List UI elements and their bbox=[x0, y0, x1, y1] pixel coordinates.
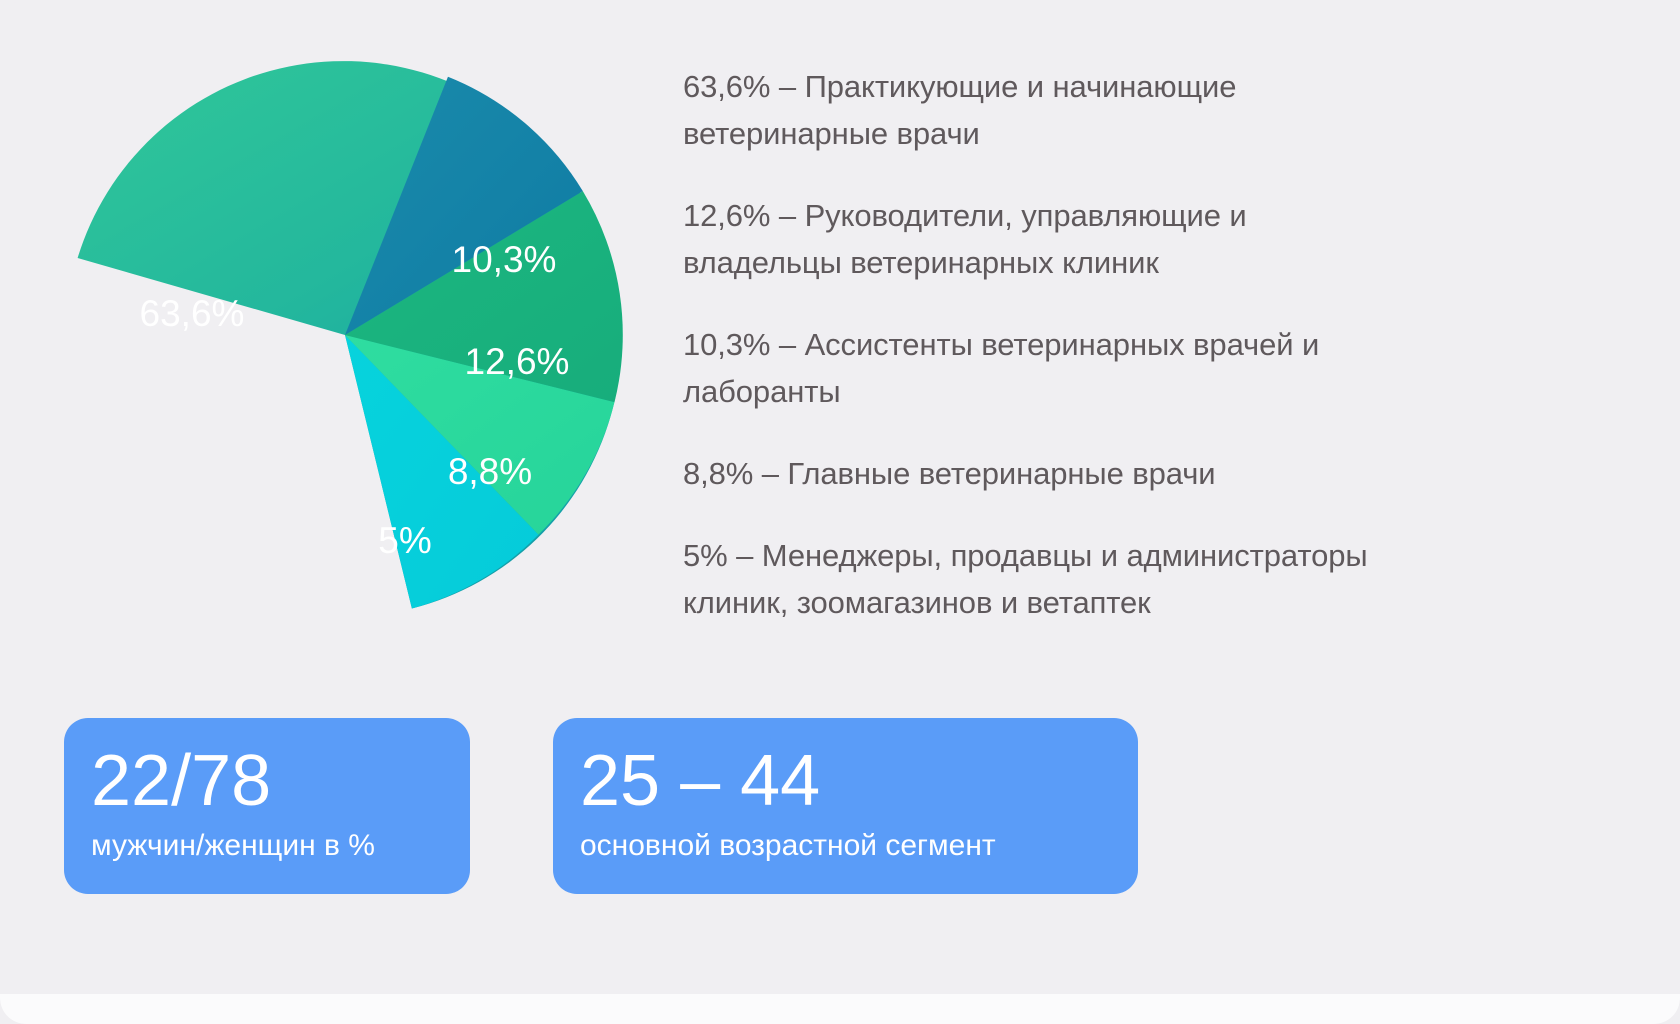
legend-item-10-3: 10,3% – Ассистенты ветеринарных врачей и… bbox=[683, 321, 1538, 415]
infographic-page: 63,6% 10,3% 12,6% 8,8% 5% 63,6% – Практи… bbox=[0, 0, 1680, 1024]
pie-label-63-6: 63,6% bbox=[140, 293, 245, 334]
stat-card-age-segment[interactable]: 25 – 44 основной возрастной сегмент bbox=[553, 718, 1138, 894]
legend-item-5: 5% – Менеджеры, продавцы и администратор… bbox=[683, 532, 1538, 626]
stat-label-age-segment: основной возрастной сегмент bbox=[580, 828, 1108, 864]
stat-cards: 22/78 мужчин/женщин в % 25 – 44 основной… bbox=[64, 718, 1138, 894]
pie-label-8-8: 8,8% bbox=[448, 451, 532, 492]
legend-item-12-6: 12,6% – Руководители, управляющие и влад… bbox=[683, 192, 1538, 286]
bottom-plate bbox=[0, 994, 1680, 1024]
stat-value-age-segment: 25 – 44 bbox=[580, 742, 1108, 820]
pie-chart-svg: 63,6% 10,3% 12,6% 8,8% 5% bbox=[67, 57, 623, 613]
legend-item-63-6: 63,6% – Практикующие и начинающие ветери… bbox=[683, 63, 1538, 157]
pie-label-12-6: 12,6% bbox=[465, 341, 570, 382]
stat-label-gender-ratio: мужчин/женщин в % bbox=[91, 828, 440, 864]
pie-label-5: 5% bbox=[378, 520, 431, 561]
legend-item-8-8: 8,8% – Главные ветеринарные врачи bbox=[683, 450, 1538, 497]
stat-card-gender-ratio[interactable]: 22/78 мужчин/женщин в % bbox=[64, 718, 470, 894]
legend: 63,6% – Практикующие и начинающие ветери… bbox=[683, 63, 1538, 626]
pie-label-10-3: 10,3% bbox=[452, 239, 557, 280]
pie-chart: 63,6% 10,3% 12,6% 8,8% 5% bbox=[67, 57, 623, 613]
stat-value-gender-ratio: 22/78 bbox=[91, 742, 440, 820]
